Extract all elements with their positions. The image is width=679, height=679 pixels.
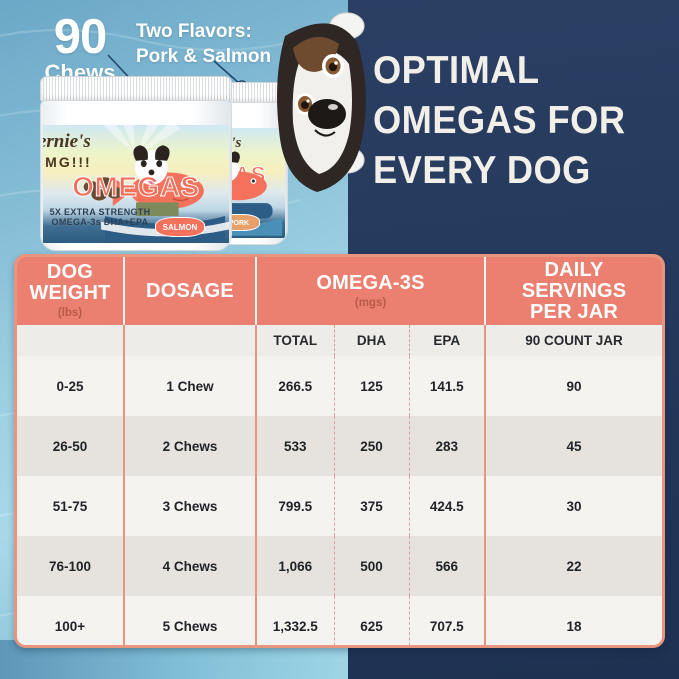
headline-line-1: OPTIMAL: [373, 46, 648, 96]
cell-dosage: 5 Chews: [124, 596, 256, 648]
cell-weight: 100+: [17, 596, 124, 648]
table-header-row: DOG WEIGHT (lbs) DOSAGE OMEGA-3S (mgs) D…: [17, 257, 662, 325]
subheader-epa: EPA: [409, 325, 485, 356]
infographic-page: 90 Chews Two Flavors: Pork & Salmon Bern…: [0, 0, 679, 679]
table-body: 0-25 1 Chew 266.5 125 141.5 90 26-50 2 C…: [17, 356, 662, 648]
table-row: 100+ 5 Chews 1,332.5 625 707.5 18: [17, 596, 662, 648]
table-subheader-row: TOTAL DHA EPA 90 COUNT JAR: [17, 325, 662, 356]
header-dosage-label: DOSAGE: [125, 281, 255, 302]
header-dosage: DOSAGE: [124, 257, 256, 325]
cell-servings: 90: [485, 356, 662, 416]
table-subheader: TOTAL DHA EPA 90 COUNT JAR: [17, 325, 662, 356]
jar-brand-salmon: Bernie's: [43, 131, 151, 153]
cell-weight: 26-50: [17, 416, 124, 476]
cell-epa: 566: [409, 536, 485, 596]
subheader-total: TOTAL: [256, 325, 334, 356]
cell-dosage: 4 Chews: [124, 536, 256, 596]
cell-servings: 30: [485, 476, 662, 536]
cell-epa: 424.5: [409, 476, 485, 536]
table-row: 76-100 4 Chews 1,066 500 566 22: [17, 536, 662, 596]
subheader-count-jar: 90 COUNT JAR: [485, 325, 662, 356]
cell-epa: 707.5: [409, 596, 485, 648]
jar-label-salmon: Bernie's OMG!!! OMEGAS 5X EXTRA STRENGTH…: [43, 125, 229, 243]
dosage-table: DOG WEIGHT (lbs) DOSAGE OMEGA-3S (mgs) D…: [17, 257, 662, 648]
subheader-blank-2: [124, 325, 256, 356]
cell-total: 533: [256, 416, 334, 476]
cell-dha: 375: [334, 476, 409, 536]
cell-epa: 141.5: [409, 356, 485, 416]
jar-lid-salmon: [40, 76, 232, 102]
cell-weight: 76-100: [17, 536, 124, 596]
cell-dha: 625: [334, 596, 409, 648]
cell-weight: 0-25: [17, 356, 124, 416]
cell-servings: 18: [485, 596, 662, 648]
cell-total: 266.5: [256, 356, 334, 416]
cell-dha: 500: [334, 536, 409, 596]
cell-dosage: 3 Chews: [124, 476, 256, 536]
page-headline: OPTIMAL OMEGAS FOR EVERY DOG: [373, 46, 648, 196]
dog-illustration: [255, 0, 390, 250]
cell-dha: 250: [334, 416, 409, 476]
cell-dosage: 2 Chews: [124, 416, 256, 476]
jar-strength-line-1: 5X EXTRA STRENGTH: [43, 207, 193, 217]
header-omega-3s-label: OMEGA-3S: [257, 273, 484, 294]
jar-omg-text: OMG!!!: [43, 154, 155, 170]
jar-name-salmon: OMEGAS: [43, 171, 229, 203]
headline-line-3: EVERY DOG: [373, 146, 648, 196]
cell-total: 1,066: [256, 536, 334, 596]
header-daily-servings: DAILY SERVINGS PER JAR: [485, 257, 662, 325]
cell-weight: 51-75: [17, 476, 124, 536]
cell-dha: 125: [334, 356, 409, 416]
header-dog-weight-line1: DOG: [17, 262, 123, 283]
header-dog-weight-line2: WEIGHT: [17, 283, 123, 304]
header-omega-3s: OMEGA-3S (mgs): [256, 257, 485, 325]
header-omega-3s-unit: (mgs): [257, 296, 484, 310]
header-daily-servings-line3: PER JAR: [486, 302, 662, 323]
cell-total: 799.5: [256, 476, 334, 536]
header-daily-servings-line2: SERVINGS: [486, 281, 662, 302]
jar-body-salmon: Bernie's OMG!!! OMEGAS 5X EXTRA STRENGTH…: [40, 100, 232, 251]
table-row: 26-50 2 Chews 533 250 283 45: [17, 416, 662, 476]
header-daily-servings-line1: DAILY: [486, 260, 662, 281]
flavor-badge-salmon: SALMON: [155, 217, 205, 237]
subheader-blank-1: [17, 325, 124, 356]
table-row: 0-25 1 Chew 266.5 125 141.5 90: [17, 356, 662, 416]
header-dog-weight: DOG WEIGHT (lbs): [17, 257, 124, 325]
table-header: DOG WEIGHT (lbs) DOSAGE OMEGA-3S (mgs) D…: [17, 257, 662, 325]
cell-epa: 283: [409, 416, 485, 476]
cell-total: 1,332.5: [256, 596, 334, 648]
product-jar-salmon: Bernie's OMG!!! OMEGAS 5X EXTRA STRENGTH…: [40, 76, 232, 251]
dosage-table-container: DOG WEIGHT (lbs) DOSAGE OMEGA-3S (mgs) D…: [14, 254, 665, 648]
cell-servings: 45: [485, 416, 662, 476]
header-dog-weight-unit: (lbs): [17, 306, 123, 320]
table-row: 51-75 3 Chews 799.5 375 424.5 30: [17, 476, 662, 536]
cell-dosage: 1 Chew: [124, 356, 256, 416]
headline-line-2: OMEGAS FOR: [373, 96, 648, 146]
cell-servings: 22: [485, 536, 662, 596]
subheader-dha: DHA: [334, 325, 409, 356]
